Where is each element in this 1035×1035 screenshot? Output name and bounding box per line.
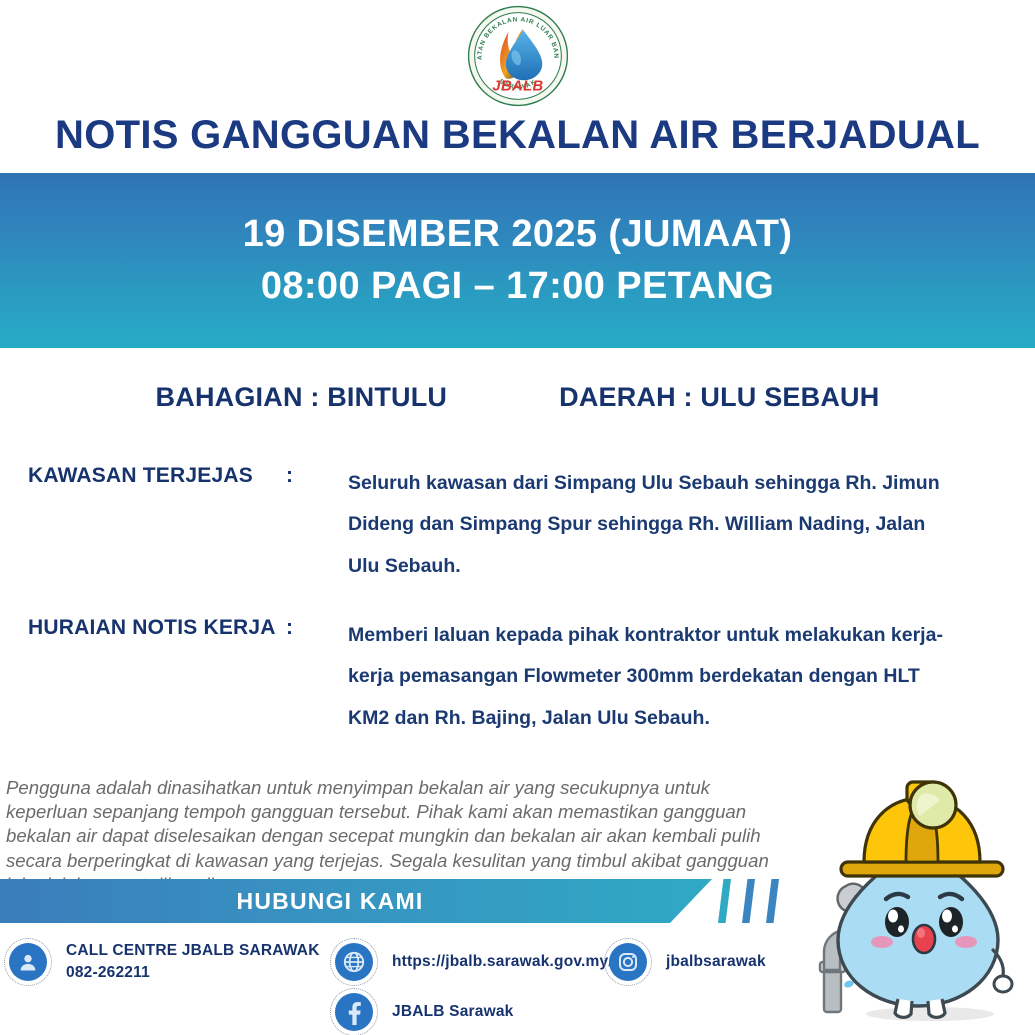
- contact-website[interactable]: https://jbalb.sarawak.gov.my/: [330, 938, 613, 986]
- detail-colon: :: [286, 463, 348, 587]
- page-title: NOTIS GANGGUAN BEKALAN AIR BERJADUAL: [0, 113, 1035, 158]
- water-droplet-mascot: [802, 762, 1035, 1035]
- website-url: https://jbalb.sarawak.gov.my/: [392, 951, 613, 973]
- daerah-label: DAERAH : ULU SEBAUH: [559, 382, 879, 413]
- detail-row-work-description: HURAIAN NOTIS KERJA : Memberi laluan kep…: [28, 615, 1008, 739]
- call-centre-line1: CALL CENTRE JBALB SARAWAK: [66, 942, 320, 959]
- call-centre-text: CALL CENTRE JBALB SARAWAK 082-262211: [66, 940, 320, 984]
- detail-value: Seluruh kawasan dari Simpang Ulu Sebauh …: [348, 463, 948, 587]
- instagram-handle: jbalbsarawak: [666, 951, 766, 973]
- bahagian-label: BAHAGIAN : BINTULU: [156, 382, 448, 413]
- detail-label: KAWASAN TERJEJAS: [28, 463, 286, 587]
- detail-value: Memberi laluan kepada pihak kontraktor u…: [348, 615, 958, 739]
- contact-instagram[interactable]: jbalbsarawak: [604, 938, 766, 986]
- division-row: BAHAGIAN : BINTULU DAERAH : ULU SEBAUH: [0, 382, 1035, 413]
- notice-date: 19 DISEMBER 2025 (JUMAAT): [243, 209, 793, 261]
- detail-colon: :: [286, 615, 348, 739]
- call-centre-phone: 082-262211: [66, 962, 320, 984]
- person-icon: [4, 938, 52, 986]
- contact-banner: HUBUNGI KAMI: [0, 879, 712, 923]
- hard-hat-icon: [841, 782, 1003, 876]
- svg-text:JBALB: JBALB: [492, 79, 543, 95]
- facebook-icon: [330, 988, 378, 1035]
- contact-call-centre[interactable]: CALL CENTRE JBALB SARAWAK 082-262211: [4, 938, 320, 986]
- notice-time: 08:00 PAGI – 17:00 PETANG: [261, 261, 774, 313]
- facebook-page: JBALB Sarawak: [392, 1001, 513, 1023]
- globe-icon: [330, 938, 378, 986]
- jbalb-logo-icon: JABATAN BEKALAN AIR LUAR BANDAR SARAWAK …: [466, 4, 570, 108]
- contact-facebook[interactable]: JBALB Sarawak: [330, 988, 513, 1035]
- date-banner: 19 DISEMBER 2025 (JUMAAT) 08:00 PAGI – 1…: [0, 173, 1035, 348]
- notice-poster: JABATAN BEKALAN AIR LUAR BANDAR SARAWAK …: [0, 0, 1035, 1035]
- instagram-icon: [604, 938, 652, 986]
- logo-container: JABATAN BEKALAN AIR LUAR BANDAR SARAWAK …: [0, 4, 1035, 108]
- contact-banner-label: HUBUNGI KAMI: [0, 879, 660, 923]
- detail-row-affected-area: KAWASAN TERJEJAS : Seluruh kawasan dari …: [28, 463, 1008, 587]
- detail-label: HURAIAN NOTIS KERJA: [28, 615, 286, 739]
